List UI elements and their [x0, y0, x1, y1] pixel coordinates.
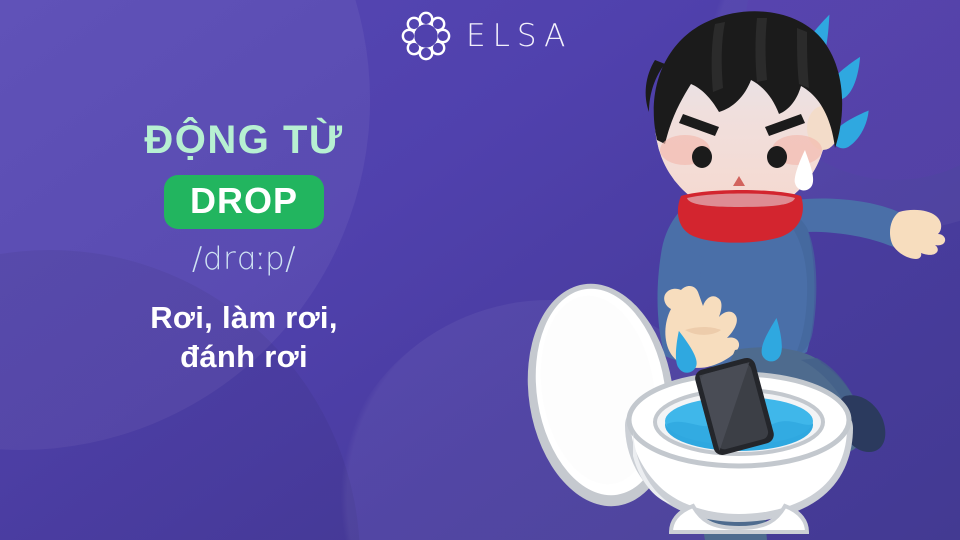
part-of-speech-label: ĐỘNG TỪ: [0, 118, 488, 162]
phonetic-transcription: /drɑːp/: [0, 241, 488, 277]
vietnamese-meaning: Rơi, làm rơi, đánh rơi: [0, 299, 488, 377]
man-right-hand: [890, 210, 945, 259]
meaning-line-2: đánh rơi: [0, 338, 488, 377]
elsa-flower-icon: [400, 10, 452, 62]
lesson-text-block: ĐỘNG TỪ DROP /drɑːp/ Rơi, làm rơi, đánh …: [0, 118, 488, 376]
vocabulary-word-badge: DROP: [164, 175, 324, 229]
man-eye-right: [767, 146, 787, 168]
slide-canvas: ELSA ĐỘNG TỪ DROP /drɑːp/ Rơi, làm rơi, …: [0, 0, 960, 540]
illustration-man-drops-phone-in-toilet: [505, 0, 960, 540]
meaning-line-1: Rơi, làm rơi,: [0, 299, 488, 338]
man-eye-left: [692, 146, 712, 168]
word-badge-row: DROP: [0, 175, 488, 229]
